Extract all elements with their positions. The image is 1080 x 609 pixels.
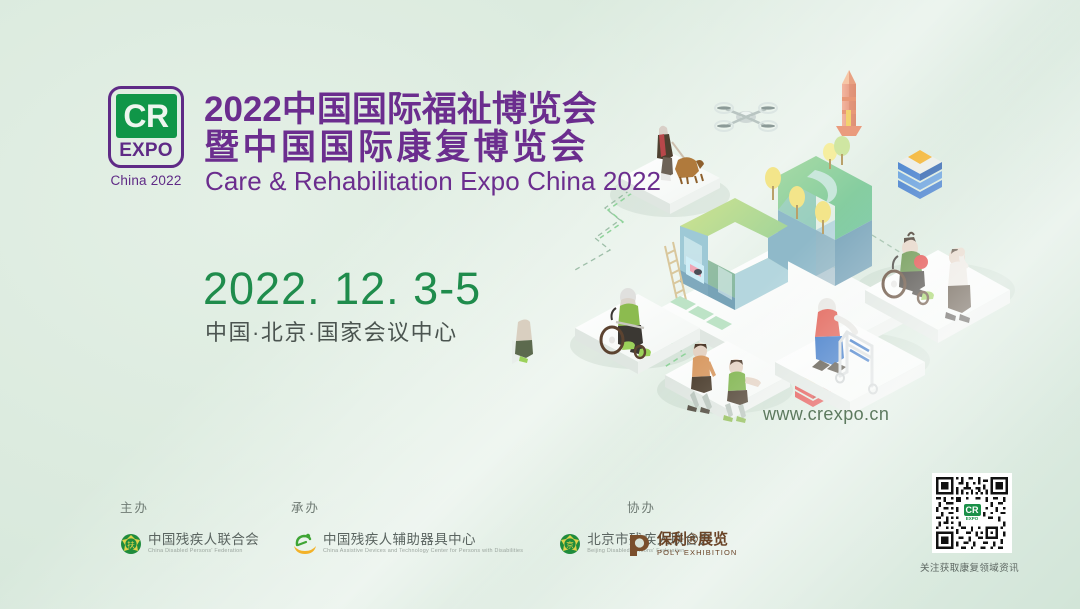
sponsor-row-coorganizer: 保利®展览 POLY EXHIBITION [627,532,737,558]
book-stack-icon-2 [898,150,942,199]
isometric-illustration [520,60,1080,440]
cr-expo-logo: CR EXPO China 2022 [108,86,194,188]
sponsor-name-en: China Disabled Persons' Federation [148,547,259,555]
page-title-en: Care & Rehabilitation Expo China 2022 [205,166,661,196]
sponsor-text: 中国残疾人辅助器具中心 China Assistive Devices and … [323,532,523,555]
sponsor-group-coorganizer: 协办 保利®展览 POLY EXHIBITION [627,497,737,558]
sponsor-group-organizer: 主办 扶 中国残疾人联合会 China Disabled Persons' Fe… [120,497,259,555]
qr-center-logo: CR EXPO [961,501,983,525]
sponsor-name-en: China Assistive Devices and Technology C… [323,547,523,555]
sponsor-item: 中国残疾人辅助器具中心 China Assistive Devices and … [291,532,523,555]
sponsor-name-zh: 中国残疾人辅助器具中心 [323,532,523,547]
sponsor-label-coorganizer: 协办 [627,497,737,516]
qr-logo-cr: CR [964,504,981,516]
tower-icon [836,70,862,136]
website-url[interactable]: www.crexpo.cn [763,404,889,425]
svg-text:京: 京 [566,539,574,549]
poster-canvas: CR EXPO China 2022 2022中国国际福祉博览会 暨中国国际康复… [0,0,1080,609]
sponsor-text: 保利®展览 POLY EXHIBITION [657,532,737,558]
partial-figure-left [512,320,534,365]
qr-logo-expo: EXPO [966,516,979,522]
qr-block: CR EXPO 关注获取康复领域资讯 [927,473,1017,574]
sponsor-item: 扶 中国残疾人联合会 China Disabled Persons' Feder… [120,532,259,555]
sponsor-item: 保利®展览 POLY EXHIBITION [627,532,737,558]
page-title-zh-line1: 2022中国国际福祉博览会 [204,91,597,129]
illustration-svg [520,60,1080,440]
sponsor-name-zh: 中国残疾人联合会 [148,532,259,547]
logo-box: CR EXPO [108,86,184,168]
drone-icon [715,103,777,131]
logo-cr-text: CR [116,94,177,138]
page-title-zh-line2: 暨中国国际康复博览会 [204,129,589,167]
event-date: 2022. 12. 3-5 [203,264,481,314]
qr-caption: 关注获取康复领域资讯 [920,560,1017,574]
sponsor-text: 中国残疾人联合会 China Disabled Persons' Federat… [148,532,259,555]
assistive-device-icon [291,533,317,555]
svg-text:扶: 扶 [127,539,135,549]
bdpf-emblem-icon: 京 [559,533,581,555]
sponsor-label-organizer: 主办 [120,497,259,516]
logo-china-text: China 2022 [103,173,189,188]
qr-code[interactable]: CR EXPO [932,473,1012,553]
sponsor-name-zh: 保利®展览 [657,532,737,548]
sponsor-row-organizer: 扶 中国残疾人联合会 China Disabled Persons' Feder… [120,532,259,555]
logo-expo-text: EXPO [119,140,173,162]
event-venue: 中国·北京·国家会议中心 [205,319,458,347]
poly-p-icon [627,533,651,557]
cdpf-emblem-icon: 扶 [120,533,142,555]
sponsor-name-en: POLY EXHIBITION [657,548,737,558]
